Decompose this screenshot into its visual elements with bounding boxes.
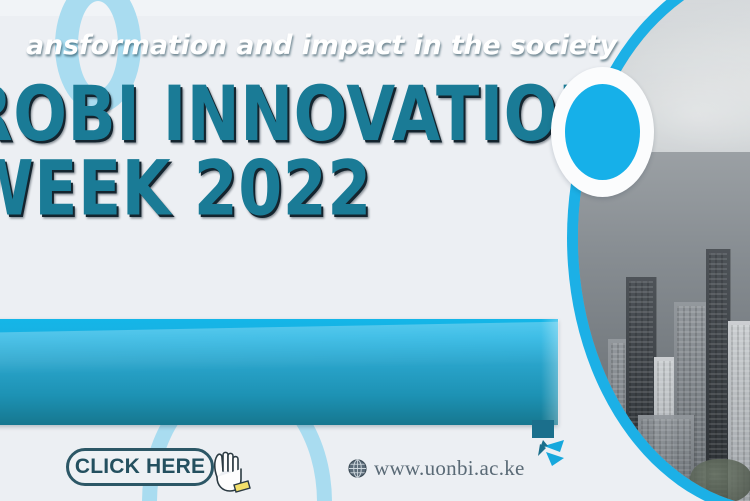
promo-banner: ROBI INNOVATION WEEK 2022 ansformation a… (0, 0, 750, 501)
globe-icon (348, 459, 367, 478)
cyan-circle-fill (565, 84, 640, 180)
click-here-button[interactable]: CLICK HERE (66, 448, 214, 486)
tagline-band (0, 319, 558, 425)
cyan-circle-letter-o (551, 67, 654, 197)
tagline-text: ansformation and impact in the society (26, 30, 574, 61)
click-here-label: CLICK HERE (69, 451, 211, 483)
headline-line-1: ROBI INNOVATION (0, 78, 617, 152)
headline-line-2: WEEK 2022 (0, 152, 617, 226)
pointing-hand-icon[interactable] (208, 447, 252, 495)
website-row[interactable]: www.uonbi.ac.ke (348, 456, 525, 481)
website-url: www.uonbi.ac.ke (374, 456, 525, 481)
page-title: ROBI INNOVATION WEEK 2022 (0, 78, 617, 226)
decorative-arrow-cursor (530, 418, 590, 480)
